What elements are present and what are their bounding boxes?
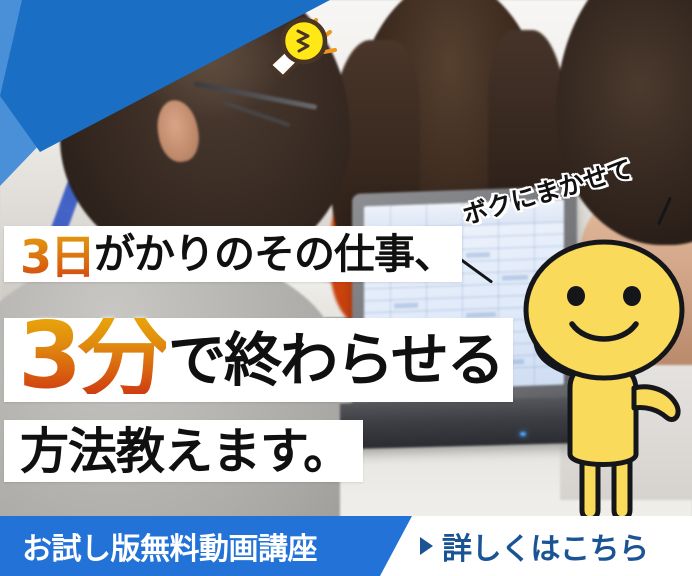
- headline-2-rest: で終わらせる: [168, 331, 503, 389]
- yellow-mascot-character: [498, 238, 692, 538]
- headline-band-3: 方法教えます。: [4, 420, 363, 482]
- headline-band-2: 3分 で終わらせる: [4, 318, 513, 402]
- ad-banner[interactable]: ボクにまかせて: [0, 0, 692, 576]
- headline-2-accent: 3分: [18, 318, 166, 393]
- cta-label-block[interactable]: お試し版無料動画講座: [0, 516, 412, 576]
- cta-link-block[interactable]: 詳しくはこちら: [412, 516, 692, 576]
- headline-band-1: 3日 がかりのその仕事、: [4, 226, 462, 282]
- idea-lightbulb-icon: [258, 8, 344, 84]
- headline-1-accent: 3日: [20, 221, 94, 287]
- cta-bar[interactable]: お試し版無料動画講座 詳しくはこちら: [0, 516, 692, 576]
- headline-3-text: 方法教えます。: [20, 427, 351, 476]
- play-arrow-icon: [420, 537, 433, 555]
- cta-link-label: 詳しくはこちら: [442, 524, 649, 568]
- headline-1-rest: がかりのその仕事、: [94, 234, 454, 275]
- cta-label: お試し版無料動画講座: [22, 524, 317, 568]
